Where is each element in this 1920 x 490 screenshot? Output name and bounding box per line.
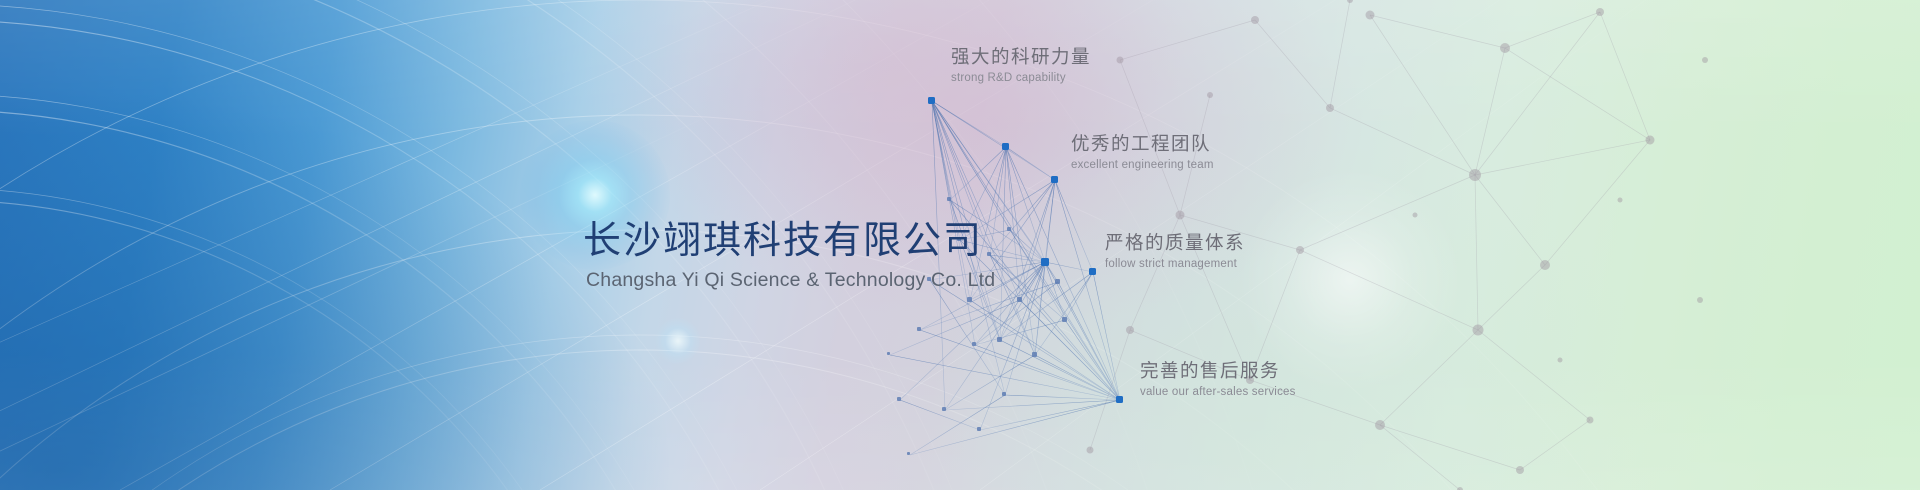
- feature-engineering-en: excellent engineering team: [1071, 159, 1214, 171]
- feature-label-rd: 强大的科研力量 strong R&D capability: [951, 46, 1091, 84]
- feature-rd-cn: 强大的科研力量: [951, 46, 1091, 69]
- feature-quality-cn: 严格的质量体系: [1105, 232, 1245, 255]
- feature-rd-en: strong R&D capability: [951, 72, 1091, 84]
- feature-service-cn: 完善的售后服务: [1140, 360, 1296, 383]
- brand-block: 长沙翊琪科技有限公司 Changsha Yi Qi Science & Tech…: [583, 218, 995, 292]
- hero-banner: 长沙翊琪科技有限公司 Changsha Yi Qi Science & Tech…: [0, 0, 1920, 490]
- lens-flare-glow-small: [655, 318, 701, 364]
- feature-quality-en: follow strict management: [1105, 258, 1245, 270]
- feature-engineering-cn: 优秀的工程团队: [1071, 133, 1214, 156]
- feature-label-quality: 严格的质量体系 follow strict management: [1105, 232, 1245, 270]
- company-name-en: Changsha Yi Qi Science & Technology Co. …: [586, 269, 995, 292]
- feature-service-en: value our after-sales services: [1140, 386, 1296, 398]
- feature-label-service: 完善的售后服务 value our after-sales services: [1140, 360, 1296, 398]
- feature-label-engineering: 优秀的工程团队 excellent engineering team: [1071, 133, 1214, 171]
- soft-white-glow-right: [1240, 170, 1460, 390]
- company-name-cn: 长沙翊琪科技有限公司: [583, 218, 995, 263]
